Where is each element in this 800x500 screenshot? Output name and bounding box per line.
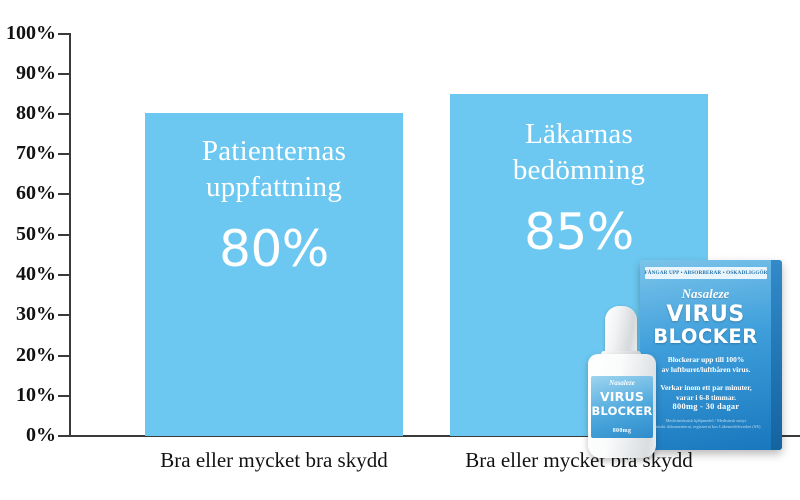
y-tick-label: 40%	[16, 261, 56, 287]
y-tick-30: 30%	[0, 314, 70, 315]
y-tick-60: 60%	[0, 193, 70, 194]
bar-label-line2: uppfattning	[145, 169, 403, 205]
y-tick-label: 80%	[16, 100, 56, 126]
box-title-line1: VIRUS	[666, 302, 744, 327]
bar-label-line2: bedömning	[450, 152, 708, 188]
bottle-dose-text: 800mg	[591, 428, 653, 434]
bottle-product-title: VIRUS BLOCKER	[591, 390, 653, 418]
box-fine-print: Medicinteknisk hjälpmedel / Medisinsk ut…	[644, 418, 768, 430]
y-tick-label: 90%	[16, 60, 56, 86]
box-banner-text: FÅNGAR UPP • ABSORBERAR • OSKADLIGGÖR	[644, 270, 767, 276]
y-tick-label: 10%	[16, 382, 56, 408]
y-tick-mark	[58, 73, 69, 75]
y-tick-0: 0%	[0, 435, 70, 436]
y-tick-mark	[58, 314, 69, 316]
y-tick-label: 100%	[6, 20, 56, 46]
box-fine-line2: Kliniskt dokumenterat, registrerat hos L…	[651, 424, 760, 429]
y-tick-70: 70%	[0, 153, 70, 154]
y-tick-40: 40%	[0, 274, 70, 275]
y-tick-mark	[58, 355, 69, 357]
y-tick-50: 50%	[0, 234, 70, 235]
y-tick-100: 100%	[0, 33, 70, 34]
box-dose-text: 800mg - 30 dagar	[646, 402, 766, 411]
bottle-label: Nasaleze VIRUS BLOCKER 800mg	[591, 376, 653, 438]
box-desc-line2: av luftburet/luftbåren virus.	[662, 365, 751, 374]
box-title-line2: BLOCKER	[640, 326, 771, 348]
y-tick-label: 60%	[16, 180, 56, 206]
bottle-brand-logo: Nasaleze	[591, 379, 653, 387]
y-tick-label: 70%	[16, 140, 56, 166]
bottle-title-line1: VIRUS	[600, 389, 644, 404]
box-desc-line4: varar i 6-8 timmar.	[676, 393, 736, 402]
bottle-body: Nasaleze VIRUS BLOCKER 800mg	[588, 354, 656, 458]
bar-patienternas: Patienternas uppfattning 80%	[145, 113, 403, 436]
box-desc-line1: Blockerar upp till 100%	[668, 355, 744, 364]
y-tick-label: 0%	[26, 422, 56, 448]
box-fine-line1: Medicinteknisk hjälpmedel / Medisinsk ut…	[666, 418, 747, 423]
bar-label-line1: Patienternas	[145, 133, 403, 169]
bottle-cap	[605, 306, 637, 360]
box-brand-logo: Nasaleze	[640, 286, 771, 302]
box-desc-line3: Verkar inom ett par minuter,	[646, 383, 766, 393]
product-bottle: Nasaleze VIRUS BLOCKER 800mg	[586, 306, 658, 458]
y-tick-mark	[58, 193, 69, 195]
y-tick-mark	[58, 113, 69, 115]
y-tick-mark	[58, 153, 69, 155]
bar-fill: Patienternas uppfattning 80%	[145, 113, 403, 436]
y-tick-mark	[58, 33, 69, 35]
y-tick-label: 30%	[16, 301, 56, 327]
box-description: Blockerar upp till 100% av luftburet/luf…	[646, 355, 766, 403]
y-axis-line	[69, 33, 71, 437]
y-tick-label: 50%	[16, 221, 56, 247]
y-tick-90: 90%	[0, 73, 70, 74]
y-tick-mark	[58, 435, 69, 437]
box-side-panel	[771, 260, 782, 450]
y-tick-mark	[58, 234, 69, 236]
bottle-title-line2: BLOCKER	[591, 404, 653, 418]
product-image: FÅNGAR UPP • ABSORBERAR • OSKADLIGGÖR Na…	[578, 248, 800, 463]
box-banner: FÅNGAR UPP • ABSORBERAR • OSKADLIGGÖR	[645, 267, 767, 279]
y-tick-80: 80%	[0, 113, 70, 114]
y-tick-10: 10%	[0, 395, 70, 396]
x-category-label-1: Bra eller mycket bra skydd	[145, 448, 403, 473]
product-box: FÅNGAR UPP • ABSORBERAR • OSKADLIGGÖR Na…	[640, 260, 782, 450]
box-product-title: VIRUS BLOCKER	[640, 304, 771, 348]
y-tick-label: 20%	[16, 342, 56, 368]
y-tick-20: 20%	[0, 355, 70, 356]
bar-label-line1: Läkarnas	[450, 116, 708, 152]
bar-chart: 100% 90% 80% 70% 60% 50% 40% 30%	[0, 0, 800, 500]
bar-value-label: 80%	[145, 221, 403, 277]
y-tick-mark	[58, 274, 69, 276]
y-tick-mark	[58, 395, 69, 397]
